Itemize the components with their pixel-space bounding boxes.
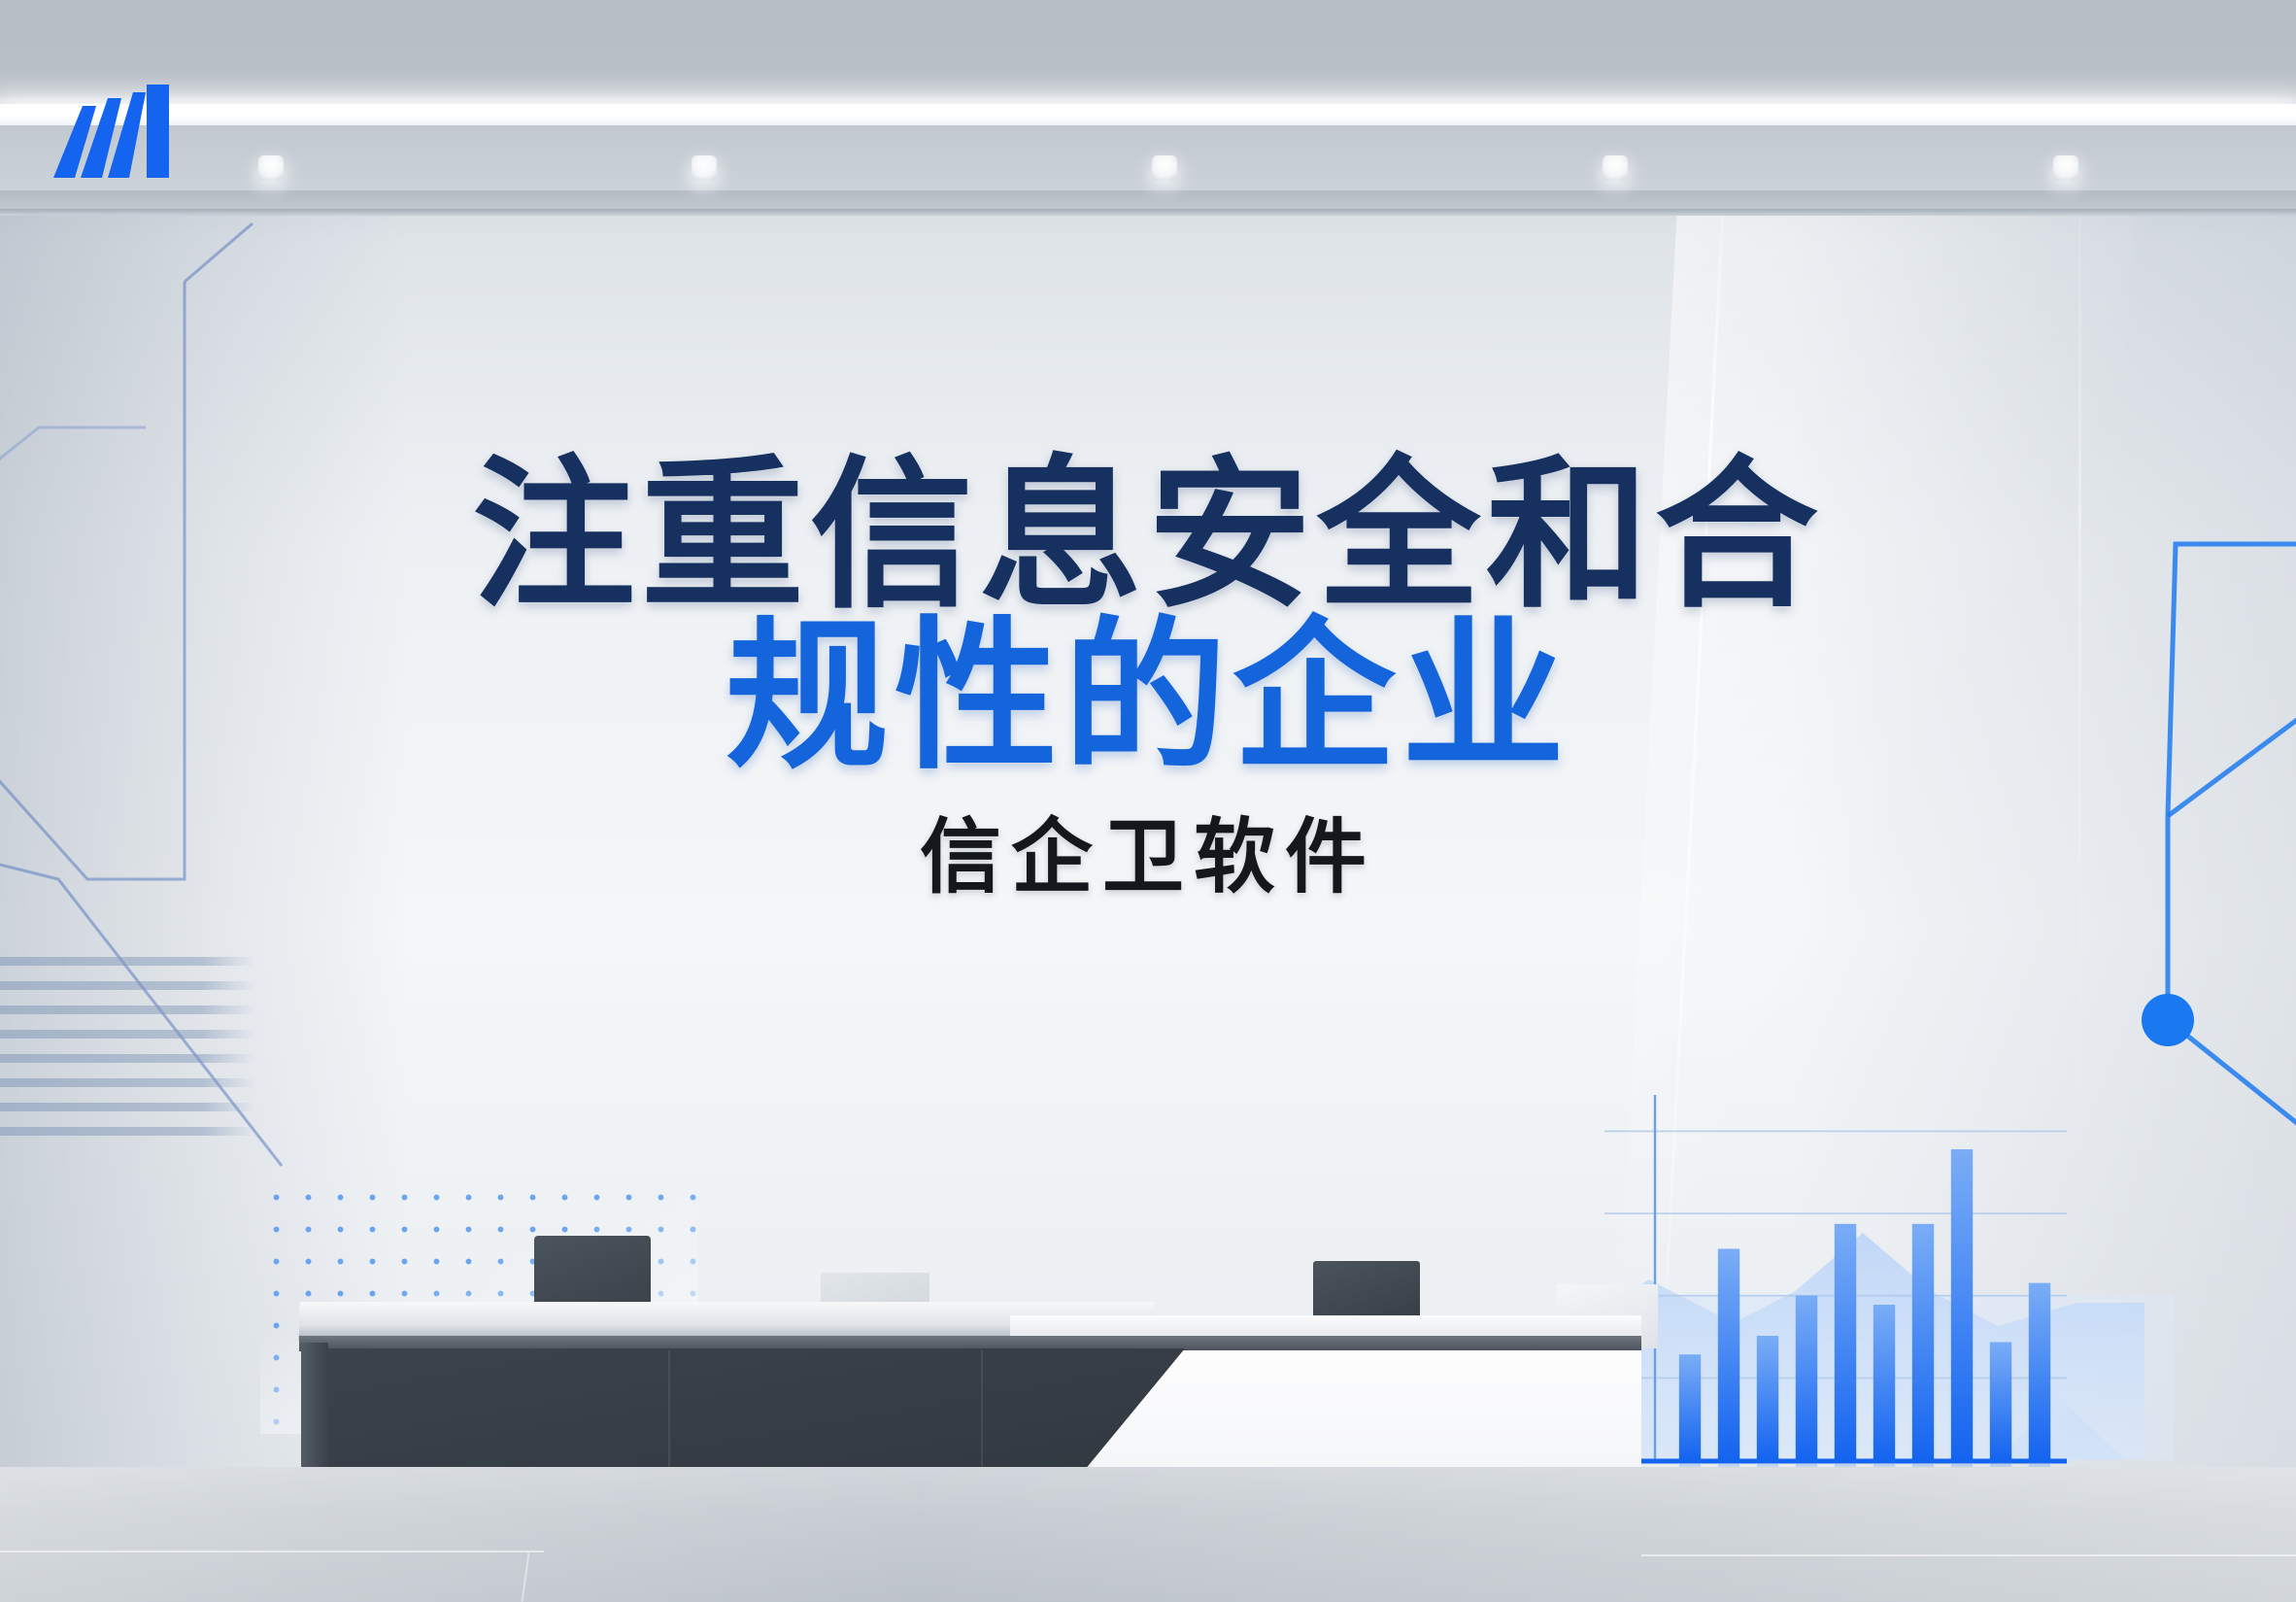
chart-bar: [1912, 1224, 1934, 1460]
page-subtitle: 信企卫软件: [0, 808, 2296, 906]
floor-tile-line: [1641, 1554, 2296, 1556]
ceiling-downlight-icon: [1603, 155, 1628, 181]
chart-bar: [1796, 1295, 1817, 1460]
page-title-accent: 规性的企业: [0, 610, 2296, 785]
headline-block: 注重信息安全和合 规性的企业 信企卫软件: [0, 449, 2296, 905]
chart-bar: [1874, 1305, 1895, 1460]
hero-banner: 注重信息安全和合 规性的企业 信企卫软件: [0, 0, 2296, 1602]
ceiling-downlight-icon: [258, 155, 284, 181]
ceiling-light-strip: [0, 104, 2296, 125]
chart-bar: [1757, 1336, 1778, 1460]
ceiling-downlight-icon: [1152, 155, 1177, 181]
chart-bar: [1951, 1149, 1973, 1460]
ceiling-downlight-icon: [2053, 155, 2078, 181]
chart-bars-logo-icon: [53, 85, 194, 178]
chart-bar: [1990, 1342, 2011, 1460]
page-title: 注重信息安全和合: [0, 449, 2296, 624]
chart-bar: [1835, 1224, 1856, 1460]
wall-stripe-band: [0, 957, 254, 1156]
ceiling-edge: [0, 209, 2296, 215]
chart-bar: [2029, 1283, 2050, 1460]
ceiling-face: [0, 125, 2296, 193]
floor-tile-line: [0, 1551, 544, 1552]
chart-bar: [1679, 1354, 1701, 1460]
company-logo[interactable]: [53, 85, 194, 178]
floor-reflection: [0, 1467, 2296, 1602]
chart-bar: [1718, 1248, 1739, 1460]
ceiling-downlight-icon: [692, 155, 717, 181]
